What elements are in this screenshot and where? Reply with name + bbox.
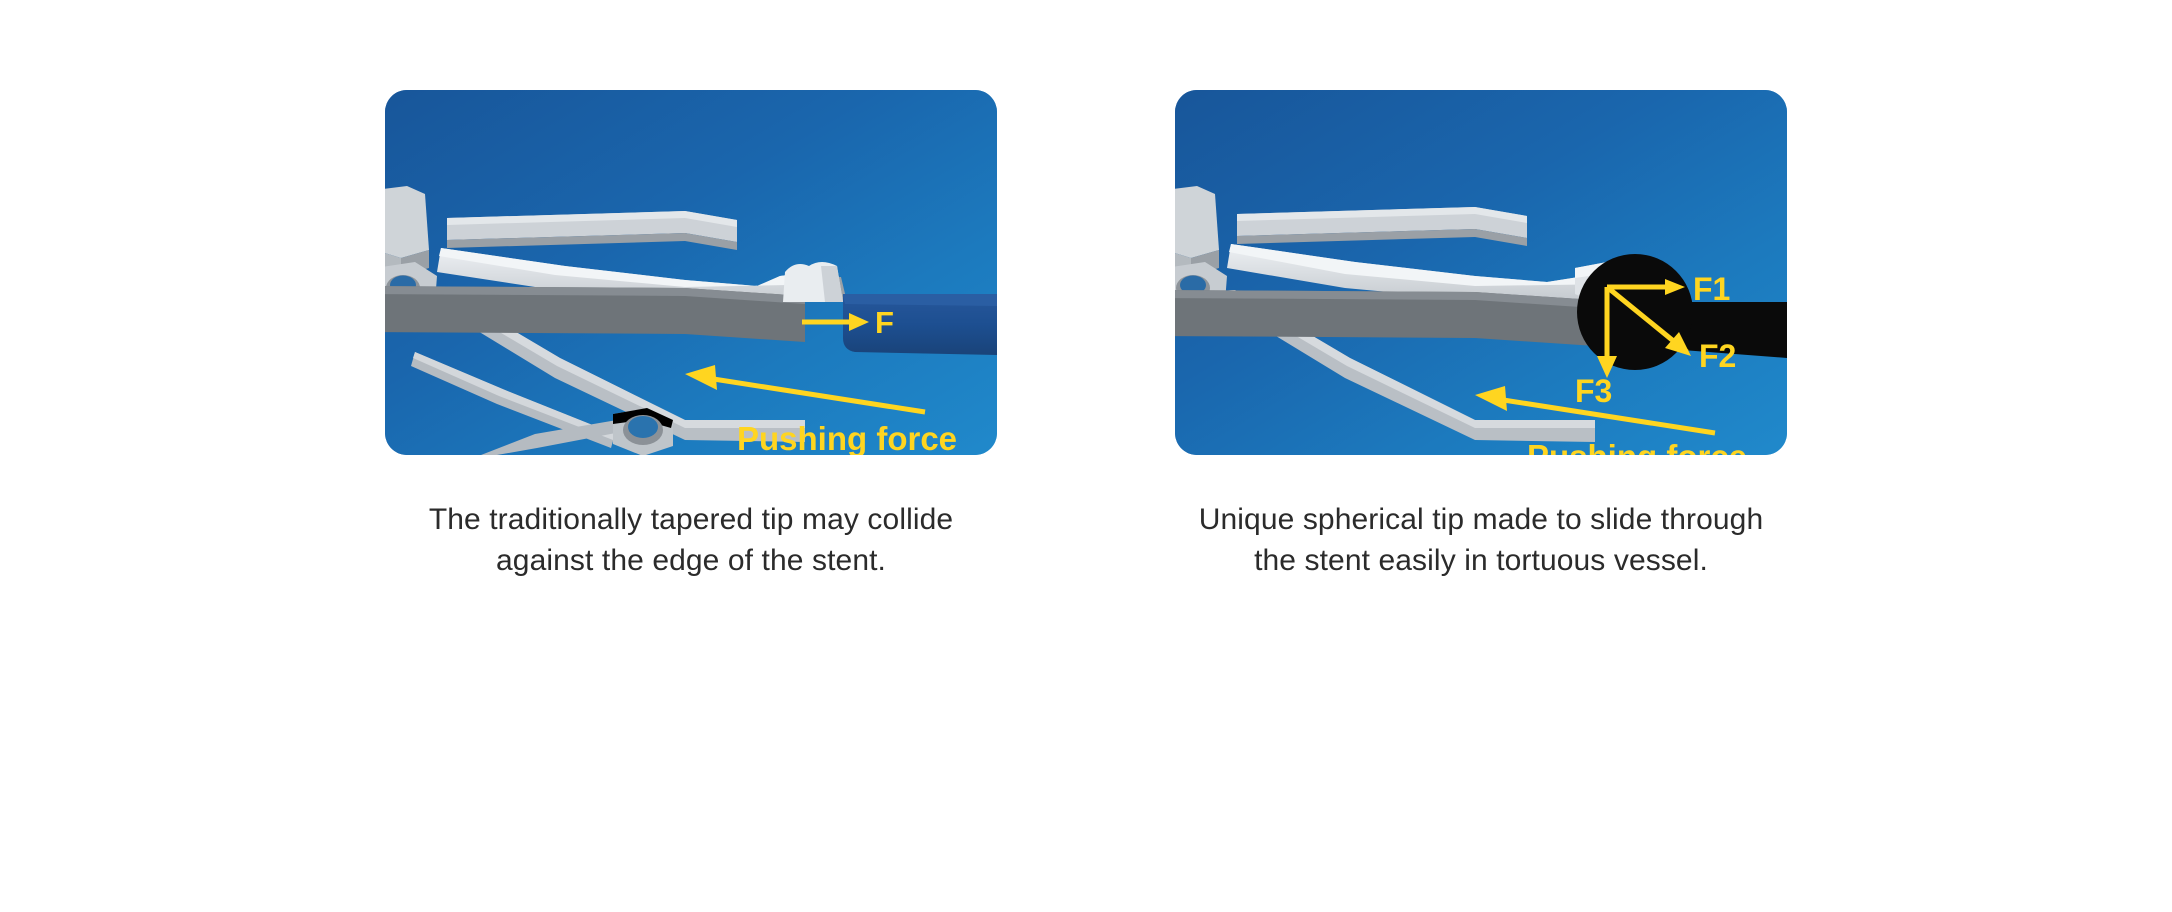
force-label-F1: F1 (1693, 271, 1730, 307)
illustration-spherical-tip: F1 F2 F3 Pushing force (1175, 90, 1787, 455)
caption-line-1: Unique spherical tip made to slide throu… (1161, 499, 1801, 540)
stent-strut-cap (783, 262, 843, 302)
caption-spherical-tip: Unique spherical tip made to slide throu… (1161, 499, 1801, 581)
illustration-tapered-tip: F Pushing force (385, 90, 997, 455)
panel-tapered-tip: F Pushing force The traditionally tapere… (385, 90, 997, 912)
pushing-force-label: Pushing force (737, 420, 957, 455)
force-label-F: F (875, 305, 894, 340)
stent-left-strut (385, 186, 429, 276)
caption-line-1: The traditionally tapered tip may collid… (371, 499, 1011, 540)
force-label-F3: F3 (1575, 373, 1612, 409)
caption-line-2: against the edge of the stent. (371, 540, 1011, 581)
caption-tapered-tip: The traditionally tapered tip may collid… (371, 499, 1011, 581)
pushing-force-label: Pushing force (1527, 438, 1747, 455)
force-label-F2: F2 (1699, 338, 1736, 374)
comparison-figure: F Pushing force The traditionally tapere… (0, 0, 2172, 912)
tapered-tip (843, 294, 997, 355)
stent-left-strut (1175, 186, 1219, 276)
panel-spherical-tip: F1 F2 F3 Pushing force Unique spherical … (1175, 90, 1787, 912)
caption-line-2: the stent easily in tortuous vessel. (1161, 540, 1801, 581)
